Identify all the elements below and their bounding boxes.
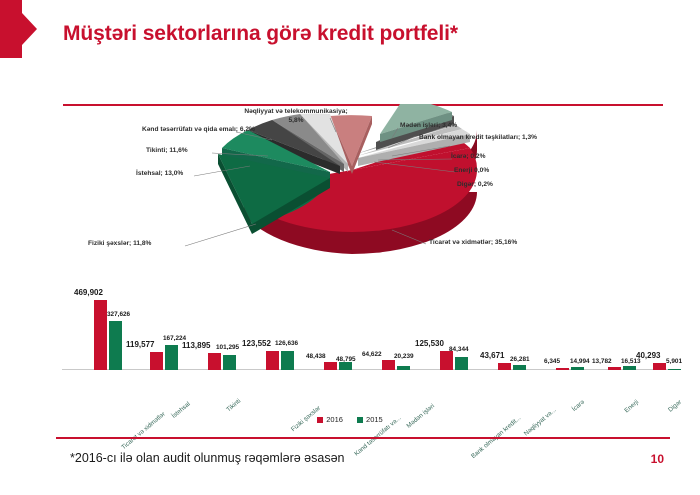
bar-value-2016: 13,782 [592, 358, 612, 365]
bar-value-2015: 84,344 [449, 346, 469, 353]
bar-chart: 469,902 327,626 119,577 167,224 113,895 … [0, 278, 700, 438]
bar-2016[interactable] [556, 368, 569, 370]
bar-value-2015: 14,994 [570, 358, 590, 365]
bar-2016[interactable] [324, 362, 337, 370]
bar-2016[interactable] [382, 360, 395, 370]
pie-label-diger: Digər; 0,2% [457, 181, 493, 190]
accent-arrow-decoration [0, 0, 22, 58]
pie-label-istehsal: İstehsal; 13,0% [136, 170, 183, 179]
pie-label-ticaret: Ticarət və xidmətlər; 35,16% [429, 239, 517, 248]
legend-swatch-2016 [317, 417, 323, 423]
legend-label-2016: 2016 [326, 415, 343, 424]
bar-value-2016: 40,293 [636, 351, 660, 360]
page-number: 10 [651, 452, 664, 466]
footnote-text: *2016-cı ilə olan audit olunmuş rəqəmlər… [70, 451, 344, 465]
pie-label-enerji: Enerji 0,0% [454, 167, 489, 176]
bar-value-2015: 20,239 [394, 353, 414, 360]
bar-2015[interactable] [165, 345, 178, 370]
bar-value-2016: 6,345 [544, 358, 560, 365]
bar-category-label: İcarə [571, 399, 586, 413]
bar-value-2016: 119,577 [126, 340, 154, 349]
bar-value-2016: 123,552 [242, 339, 271, 348]
bar-2015[interactable] [223, 355, 236, 370]
bar-value-2015: 26,281 [510, 356, 530, 363]
legend-swatch-2015 [357, 417, 363, 423]
bar-2016[interactable] [94, 300, 107, 370]
bar-category-label: Tikinti [225, 398, 242, 414]
bar-2015[interactable] [455, 357, 468, 370]
pie-label-neqliyyat: Nəqliyyat və telekommunikasiya; 5,8% [241, 108, 351, 125]
bar-category-label: Enerji [623, 399, 640, 415]
bar-value-2015: 126,636 [275, 340, 298, 347]
bar-2016[interactable] [608, 367, 621, 370]
bar-2015[interactable] [397, 366, 410, 370]
bar-2016[interactable] [440, 351, 453, 370]
pie-chart-svg [0, 104, 700, 279]
bar-2015[interactable] [623, 366, 636, 370]
pie-label-kend-teserrufati: Kənd təsərrüfatı və qida emalı; 6,2% [142, 126, 255, 135]
bar-value-2016: 125,530 [415, 339, 444, 348]
bar-2015[interactable] [513, 365, 526, 370]
bar-2015[interactable] [668, 369, 681, 371]
bar-value-2015: 5,901 [666, 358, 682, 365]
bar-2016[interactable] [208, 353, 221, 370]
pie-chart: Kənd təsərrüfatı və qida emalı; 6,2% Tik… [0, 104, 700, 279]
bar-category-label: Digər [667, 399, 683, 414]
bar-2015[interactable] [281, 351, 294, 370]
bar-2015[interactable] [109, 321, 122, 370]
pie-label-bank-olmayan: Bank olmayan kredit təşkilatları; 1,3% [419, 134, 537, 143]
page-title: Müştəri sektorlarına görə kredit portfel… [63, 22, 458, 46]
bar-2016[interactable] [653, 363, 666, 370]
pie-label-tikinti: Tikinti; 11,6% [146, 147, 188, 156]
legend-label-2015: 2015 [366, 415, 383, 424]
pie-label-icare: İcarə; 0,2% [451, 153, 485, 162]
bar-value-2016: 469,902 [74, 288, 103, 297]
legend-item-2016[interactable]: 2016 [317, 415, 343, 424]
bar-value-2016: 64,622 [362, 351, 382, 358]
bar-2016[interactable] [150, 352, 163, 370]
bar-value-2015: 101,295 [216, 344, 239, 351]
bar-value-2015: 327,626 [107, 311, 130, 318]
bar-2016[interactable] [498, 363, 511, 370]
bar-value-2016: 113,895 [182, 341, 210, 350]
bar-value-2015: 48,795 [336, 356, 356, 363]
bar-2015[interactable] [339, 362, 352, 370]
bar-chart-legend: 2016 2015 [0, 415, 700, 424]
pie-label-meden-isleri: Mədən işləri; 3,4% [400, 122, 457, 131]
bar-2015[interactable] [571, 367, 584, 370]
bar-2016[interactable] [266, 351, 279, 370]
bar-value-2016: 48,438 [306, 353, 326, 360]
legend-item-2015[interactable]: 2015 [357, 415, 383, 424]
pie-label-fiziki-sexsler: Fiziki şəxslər; 11,8% [88, 240, 151, 249]
bar-value-2016: 43,671 [480, 351, 504, 360]
footer-divider [56, 437, 670, 439]
